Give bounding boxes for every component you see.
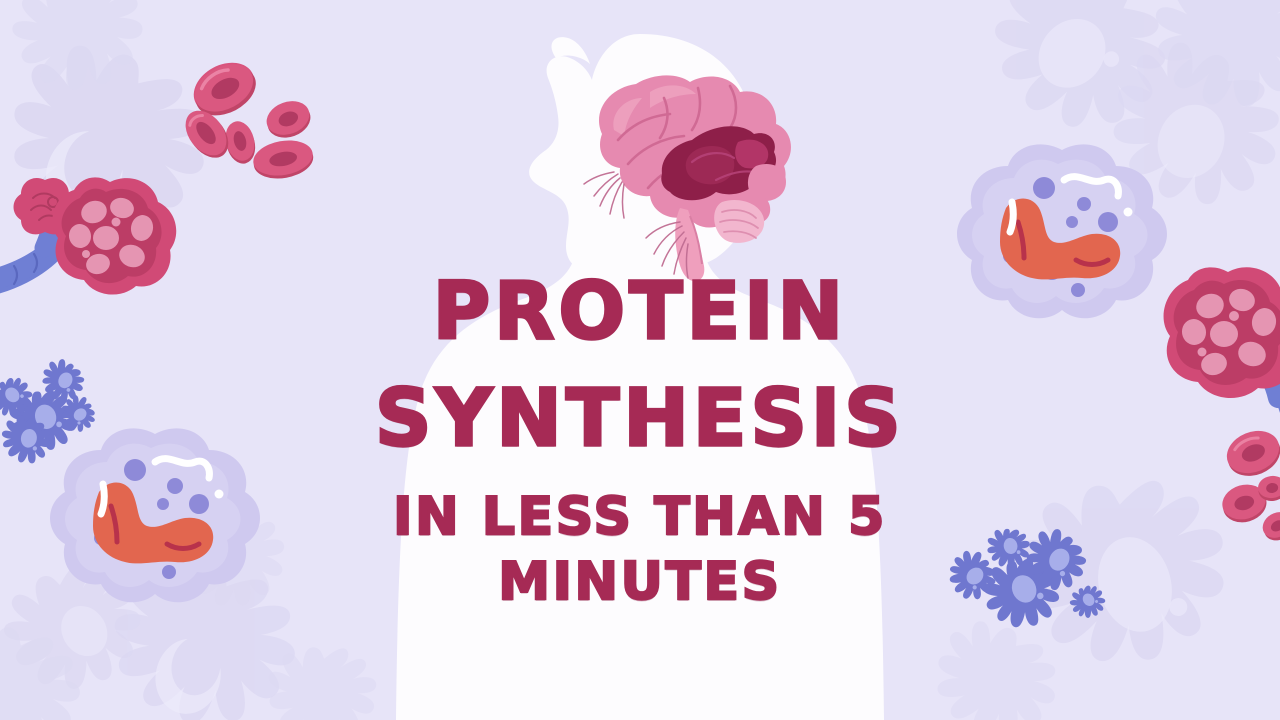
alveoli-capillary-cluster	[0, 177, 176, 294]
illustration-layer	[0, 0, 1280, 720]
red-blood-cells	[1218, 423, 1280, 545]
macrophage-cell	[50, 428, 260, 602]
video-thumbnail-canvas: PROTEIN SYNTHESIS IN LESS THAN 5 MINUTES	[0, 0, 1280, 720]
virus-particles	[939, 521, 1112, 641]
red-blood-cells	[177, 53, 316, 183]
alveolus-large	[1164, 267, 1280, 398]
brain-illustration	[584, 75, 791, 281]
virus-particles	[0, 354, 102, 468]
macrophage-cell	[957, 144, 1167, 318]
alveoli-capillary-cluster	[1164, 267, 1280, 430]
alveolus-large	[52, 177, 176, 294]
